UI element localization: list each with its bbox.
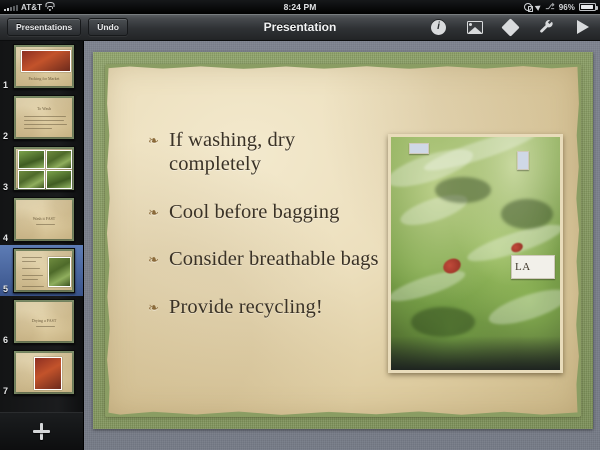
bullet-arrow-icon: ❧ bbox=[148, 201, 161, 225]
thumbnail-title: Packing for Market bbox=[16, 76, 72, 81]
photo-image: LA bbox=[391, 137, 560, 370]
bagged-greens-photo[interactable]: LA bbox=[388, 134, 563, 373]
paper-edge-top bbox=[106, 64, 580, 71]
slide-number: 5 bbox=[3, 284, 8, 294]
thumbnail-title: To Wash bbox=[16, 106, 72, 111]
thumbnail-image: Drying a FAST bbox=[13, 299, 75, 344]
thumbnail-image bbox=[13, 350, 75, 395]
add-slide-bar[interactable] bbox=[0, 412, 83, 450]
battery-icon bbox=[579, 3, 596, 11]
thumbnail-image: Packing for Market bbox=[13, 44, 75, 89]
thumbnail-image bbox=[13, 248, 75, 293]
slide-bullet-list[interactable]: ❧ If washing, dry completely ❧ Cool befo… bbox=[148, 129, 380, 320]
bullet-arrow-icon: ❧ bbox=[148, 296, 161, 320]
slide-thumbnail-4[interactable]: 4 Wash it FAST bbox=[0, 194, 83, 245]
paper-edge-right bbox=[574, 65, 581, 416]
slide-number: 3 bbox=[3, 182, 8, 192]
bullet-text: If washing, dry completely bbox=[169, 129, 380, 177]
play-presentation-icon[interactable] bbox=[573, 18, 592, 37]
photo-label-text: LA bbox=[511, 255, 555, 279]
rotation-lock-icon bbox=[524, 3, 532, 11]
status-bar: AT&T 8:24 PM ⎇ 96% bbox=[0, 0, 600, 14]
slide-navigator-sidebar[interactable]: 1 Packing for Market 2 To Wash bbox=[0, 41, 84, 450]
slide-thumbnail-3[interactable]: 3 bbox=[0, 143, 83, 194]
shapes-icon[interactable] bbox=[501, 18, 520, 37]
clock-label: 8:24 PM bbox=[0, 2, 600, 12]
slide-thumbnail-7[interactable]: 7 bbox=[0, 347, 83, 398]
add-slide-button[interactable] bbox=[33, 423, 50, 440]
undo-button[interactable]: Undo bbox=[88, 18, 128, 36]
thumbnail-image: Wash it FAST bbox=[13, 197, 75, 242]
bullet-arrow-icon: ❧ bbox=[148, 129, 161, 177]
slide-thumbnail-2[interactable]: 2 To Wash bbox=[0, 92, 83, 143]
bullet-text: Cool before bagging bbox=[169, 201, 339, 225]
thumbnail-title: Wash it FAST bbox=[16, 216, 72, 221]
list-item[interactable]: ❧ Consider breathable bags bbox=[148, 248, 380, 272]
current-slide[interactable]: ❧ If washing, dry completely ❧ Cool befo… bbox=[93, 52, 593, 429]
slide-paper-background: ❧ If washing, dry completely ❧ Cool befo… bbox=[106, 65, 580, 416]
info-icon[interactable]: i bbox=[429, 18, 448, 37]
slide-number: 2 bbox=[3, 131, 8, 141]
media-icon[interactable] bbox=[465, 18, 484, 37]
slide-thumbnail-1[interactable]: 1 Packing for Market bbox=[0, 41, 83, 92]
slide-thumbnail-list[interactable]: 1 Packing for Market 2 To Wash bbox=[0, 41, 83, 412]
bluetooth-icon: ⎇ bbox=[545, 3, 554, 11]
thumbnail-title: Drying a FAST bbox=[16, 318, 72, 323]
slide-number: 6 bbox=[3, 335, 8, 345]
thumbnail-image: To Wash bbox=[13, 95, 75, 140]
bullet-text: Provide recycling! bbox=[169, 296, 323, 320]
thumbnail-image bbox=[13, 146, 75, 191]
bullet-arrow-icon: ❧ bbox=[148, 248, 161, 272]
slide-number: 7 bbox=[3, 386, 8, 396]
app-toolbar: Presentations Undo Presentation i bbox=[0, 14, 600, 41]
list-item[interactable]: ❧ If washing, dry completely bbox=[148, 129, 380, 177]
slide-number: 4 bbox=[3, 233, 8, 243]
paper-edge-bottom bbox=[106, 409, 580, 417]
bullet-text: Consider breathable bags bbox=[169, 248, 379, 272]
slide-canvas[interactable]: ❧ If washing, dry completely ❧ Cool befo… bbox=[84, 41, 600, 450]
presentations-button[interactable]: Presentations bbox=[7, 18, 81, 36]
photo-shadow bbox=[391, 336, 560, 370]
location-arrow-icon bbox=[535, 3, 543, 11]
slide-number: 1 bbox=[3, 80, 8, 90]
list-item[interactable]: ❧ Provide recycling! bbox=[148, 296, 380, 320]
tools-wrench-icon[interactable] bbox=[537, 18, 556, 37]
paper-edge-left bbox=[105, 65, 112, 416]
battery-percent-label: 96% bbox=[559, 3, 575, 12]
list-item[interactable]: ❧ Cool before bagging bbox=[148, 201, 380, 225]
slide-thumbnail-5[interactable]: 5 bbox=[0, 245, 83, 296]
slide-thumbnail-6[interactable]: 6 Drying a FAST bbox=[0, 296, 83, 347]
ipad-keynote-screen: AT&T 8:24 PM ⎇ 96% Presentations Undo Pr… bbox=[0, 0, 600, 450]
